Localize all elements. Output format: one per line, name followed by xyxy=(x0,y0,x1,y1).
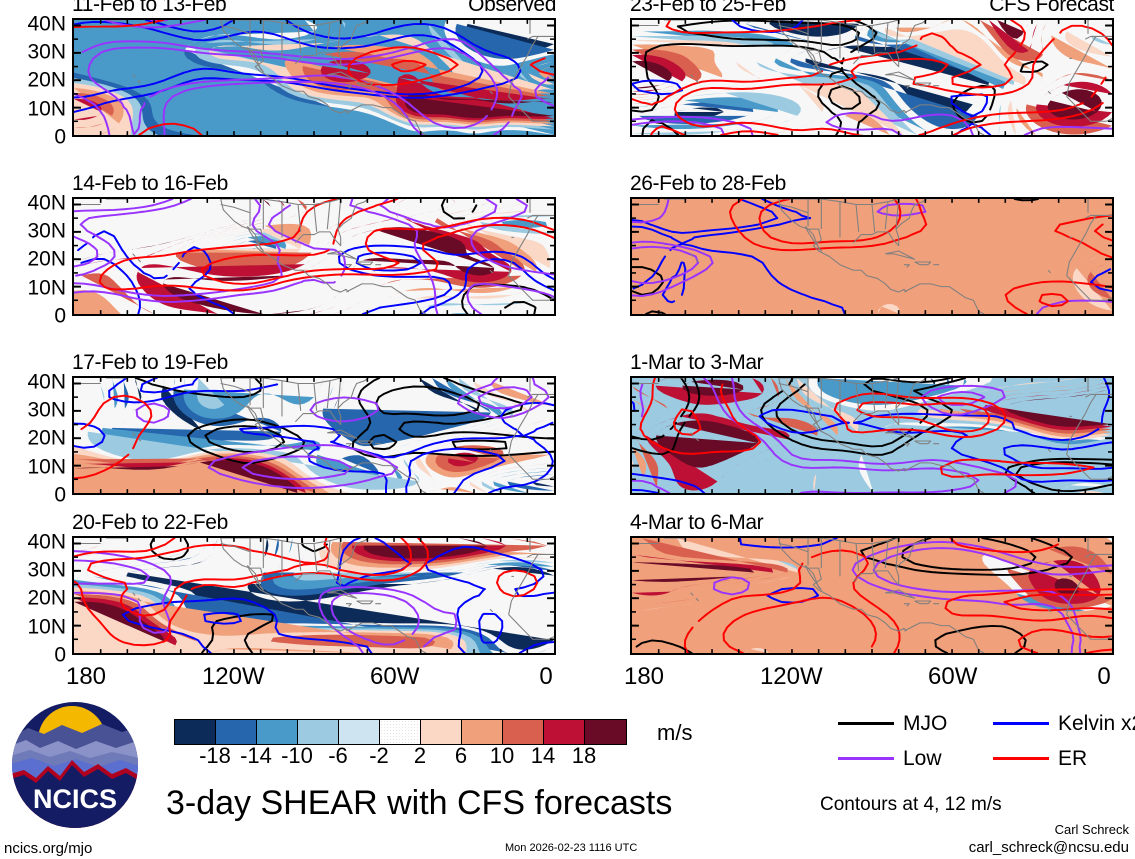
colorbar: -18-14-10-6-226101418 m/s xyxy=(174,719,625,779)
map-panel-fcst-3: 1-Mar to 3-Mar xyxy=(630,376,1114,495)
y-tick-label: 0 xyxy=(54,645,66,666)
y-tick-label: 0 xyxy=(54,485,66,506)
panel-title: 11-Feb to 13-Feb xyxy=(72,0,226,15)
y-tick-label: 30N xyxy=(27,42,66,63)
colorbar-tick-labels: -18-14-10-6-226101418 xyxy=(174,745,625,773)
map-canvas xyxy=(630,197,1114,316)
map-canvas xyxy=(630,536,1114,655)
x-axis-labels: 180120W60W0 xyxy=(630,655,1114,689)
legend-item-low: Low xyxy=(838,748,942,769)
panel-title: 23-Feb to 25-Feb xyxy=(630,0,786,15)
x-tick-label: 120W xyxy=(760,665,823,689)
x-tick-label: 0 xyxy=(1097,665,1110,689)
colorbar-swatch xyxy=(216,720,257,744)
y-tick-label: 40N xyxy=(27,371,66,392)
colorbar-tick-label: -2 xyxy=(369,745,389,767)
legend-line-low xyxy=(838,757,894,760)
y-tick-label: 20N xyxy=(27,70,66,91)
y-tick-label: 20N xyxy=(27,428,66,449)
y-tick-label: 20N xyxy=(27,249,66,270)
x-tick-label: 0 xyxy=(539,665,552,689)
y-tick-label: 30N xyxy=(27,221,66,242)
footer-timestamp: Mon 2026-02-23 1116 UTC xyxy=(505,843,637,854)
colorbar-swatch xyxy=(585,720,626,744)
x-tick-label: 180 xyxy=(624,665,664,689)
map-panel-fcst-1: 23-Feb to 25-FebCFS Forecast xyxy=(630,18,1114,137)
y-axis-labels: 40N30N20N10N0 xyxy=(8,18,72,137)
colorbar-swatch xyxy=(503,720,544,744)
y-axis-labels: 40N30N20N10N0 xyxy=(8,536,72,655)
colorbar-tick-label: -14 xyxy=(240,745,272,767)
map-panel-obs-3: 17-Feb to 19-Feb40N30N20N10N0 xyxy=(72,376,556,495)
map-canvas xyxy=(72,197,556,316)
map-canvas xyxy=(72,376,556,495)
y-tick-label: 20N xyxy=(27,588,66,609)
y-tick-label: 0 xyxy=(54,306,66,327)
colorbar-swatch xyxy=(462,720,503,744)
legend-label-low: Low xyxy=(903,748,942,769)
contour-note: Contours at 4, 12 m/s xyxy=(820,795,1002,814)
panel-title: 14-Feb to 16-Feb xyxy=(72,173,228,194)
colorbar-tick-label: 2 xyxy=(414,745,426,767)
svg-text:NCICS: NCICS xyxy=(33,784,117,814)
column-header-observed: Observed xyxy=(468,0,556,15)
colorbar-tick-label: 14 xyxy=(531,745,555,767)
colorbar-tick-label: -10 xyxy=(281,745,313,767)
column-header-cfs-forecast: CFS Forecast xyxy=(989,0,1114,15)
y-tick-label: 30N xyxy=(27,560,66,581)
legend-line-kelvin xyxy=(993,722,1049,725)
map-panel-fcst-4: 4-Mar to 6-Mar180120W60W0 xyxy=(630,536,1114,655)
y-tick-label: 40N xyxy=(27,192,66,213)
legend-label-kelvin: Kelvin x2 xyxy=(1058,713,1135,734)
y-tick-label: 30N xyxy=(27,400,66,421)
colorbar-tick-label: -6 xyxy=(328,745,348,767)
colorbar-swatch xyxy=(421,720,462,744)
legend-item-er: ER xyxy=(993,748,1087,769)
colorbar-unit-label: m/s xyxy=(657,722,692,744)
legend-line-mjo xyxy=(838,722,894,725)
map-canvas xyxy=(72,536,556,655)
panel-title: 26-Feb to 28-Feb xyxy=(630,173,786,194)
legend-line-er xyxy=(993,757,1049,760)
y-tick-label: 40N xyxy=(27,13,66,34)
map-panel-obs-1: 11-Feb to 13-FebObserved40N30N20N10N0 xyxy=(72,18,556,137)
page-title: 3-day SHEAR with CFS forecasts xyxy=(166,786,672,820)
figure-root: 11-Feb to 13-FebObserved40N30N20N10N014-… xyxy=(0,0,1135,859)
colorbar-tick-label: -18 xyxy=(199,745,231,767)
y-tick-label: 10N xyxy=(27,277,66,298)
x-tick-label: 60W xyxy=(370,665,419,689)
map-panel-fcst-2: 26-Feb to 28-Feb xyxy=(630,197,1114,316)
colorbar-swatch xyxy=(257,720,298,744)
colorbar-tick-label: 18 xyxy=(572,745,596,767)
colorbar-swatches xyxy=(174,719,627,745)
map-panel-obs-2: 14-Feb to 16-Feb40N30N20N10N0 xyxy=(72,197,556,316)
ncics-logo: NCICS xyxy=(10,700,140,830)
panel-title: 17-Feb to 19-Feb xyxy=(72,352,228,373)
y-axis-labels: 40N30N20N10N0 xyxy=(8,197,72,316)
legend-label-er: ER xyxy=(1058,748,1087,769)
footer-author: Carl Schreck xyxy=(1055,823,1129,836)
map-panel-obs-4: 20-Feb to 22-Feb40N30N20N10N0180120W60W0 xyxy=(72,536,556,655)
y-tick-label: 10N xyxy=(27,456,66,477)
footer-site[interactable]: ncics.org/mjo xyxy=(4,841,92,856)
colorbar-tick-label: 10 xyxy=(490,745,514,767)
colorbar-swatch xyxy=(298,720,339,744)
colorbar-swatch xyxy=(544,720,585,744)
map-canvas xyxy=(630,18,1114,137)
y-tick-label: 0 xyxy=(54,127,66,148)
map-canvas xyxy=(630,376,1114,495)
footer-email[interactable]: carl_schreck@ncsu.edu xyxy=(969,840,1129,855)
contour-legend: MJO Kelvin x2 Low ER Contours at 4, 12 m… xyxy=(838,713,1128,813)
legend-label-mjo: MJO xyxy=(903,713,947,734)
colorbar-swatch xyxy=(339,720,380,744)
legend-item-mjo: MJO xyxy=(838,713,947,734)
map-canvas xyxy=(72,18,556,137)
x-tick-label: 60W xyxy=(928,665,977,689)
x-tick-label: 180 xyxy=(66,665,106,689)
panel-title: 20-Feb to 22-Feb xyxy=(72,512,228,533)
y-tick-label: 10N xyxy=(27,616,66,637)
panel-title: 1-Mar to 3-Mar xyxy=(630,352,763,373)
y-tick-label: 40N xyxy=(27,531,66,552)
colorbar-swatch xyxy=(175,720,216,744)
x-axis-labels: 180120W60W0 xyxy=(72,655,556,689)
colorbar-tick-label: 6 xyxy=(455,745,467,767)
y-axis-labels: 40N30N20N10N0 xyxy=(8,376,72,495)
y-tick-label: 10N xyxy=(27,98,66,119)
colorbar-swatch xyxy=(380,720,421,744)
panel-title: 4-Mar to 6-Mar xyxy=(630,512,763,533)
x-tick-label: 120W xyxy=(202,665,265,689)
legend-item-kelvin: Kelvin x2 xyxy=(993,713,1135,734)
